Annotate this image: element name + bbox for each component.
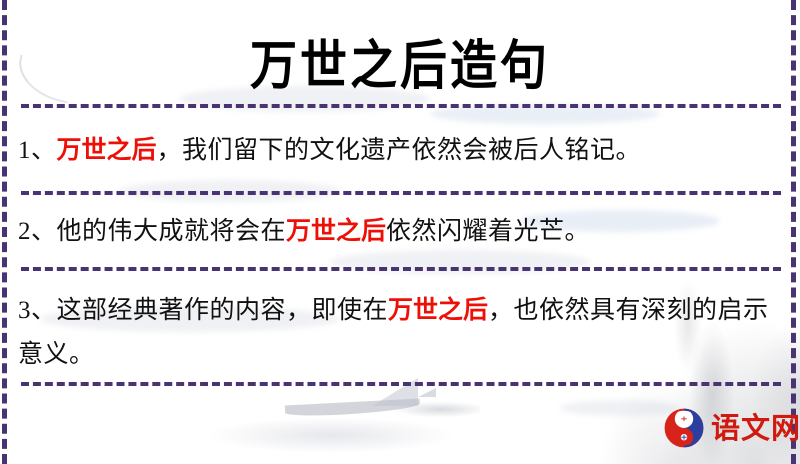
page-title: 万世之后造句 — [250, 22, 550, 99]
page-title-container: 万世之后造句 — [0, 22, 800, 91]
watermark-boat-tail — [418, 388, 436, 397]
sentence-text: 他的伟大成就将会在 — [57, 218, 287, 245]
slide-canvas: 万世之后造句 1、万世之后，我们留下的文化遗产依然会被后人铭记。 2、他的伟大成… — [0, 0, 800, 464]
sentence-number: 1、 — [18, 137, 57, 164]
divider-rule-4 — [21, 382, 781, 386]
sentence-item-1: 1、万世之后，我们留下的文化遗产依然会被后人铭记。 — [18, 128, 786, 173]
sentence-text: ，我们留下的文化遗产依然会被后人铭记。 — [157, 137, 642, 164]
watermark-boat-hull — [285, 398, 420, 417]
sentence-text: 依然闪耀着光芒。 — [386, 218, 590, 245]
keyword-highlight: 万世之后 — [286, 216, 386, 245]
divider-rule-1 — [21, 104, 781, 108]
site-logo[interactable]: 语文网 — [664, 408, 800, 448]
divider-rule-3 — [21, 267, 781, 271]
divider-rule-2 — [21, 191, 781, 195]
yinyang-circle-icon — [664, 408, 704, 448]
sentence-item-2: 2、他的伟大成就将会在万世之后依然闪耀着光芒。 — [18, 209, 786, 254]
keyword-highlight: 万世之后 — [57, 135, 157, 164]
site-logo-text: 语文网 — [711, 414, 800, 443]
sentence-number: 2、 — [18, 218, 57, 245]
watermark-boat — [150, 392, 480, 454]
watermark-cloud — [560, 400, 680, 416]
sentence-item-3: 3、这部经典著作的内容，即使在万世之后，也依然具有深刻的启示意义。 — [18, 288, 786, 377]
sentence-text: 这部经典著作的内容，即使在 — [57, 297, 389, 324]
sentence-number: 3、 — [18, 297, 57, 324]
keyword-highlight: 万世之后 — [388, 295, 488, 324]
